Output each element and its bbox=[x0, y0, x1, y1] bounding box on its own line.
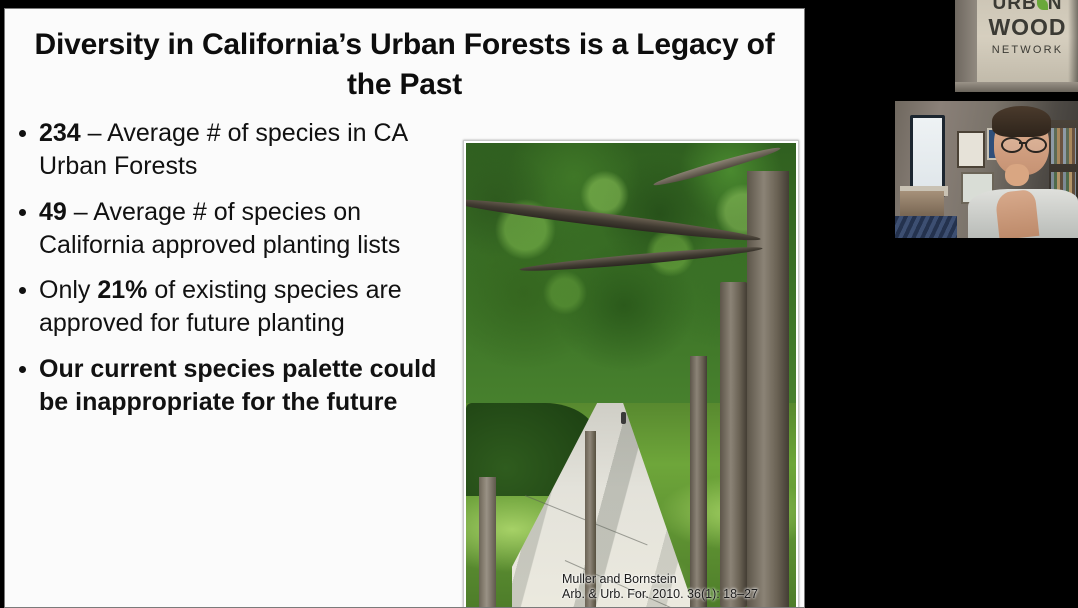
logo-edge-shadow bbox=[1068, 0, 1078, 92]
slide-title: Diversity in California’s Urban Forests … bbox=[33, 25, 776, 105]
logo-line-network: NETWORK bbox=[979, 45, 1076, 56]
list-item: Only 21% of existing species are approve… bbox=[13, 274, 461, 341]
photo-citation: Muller and Bornstein Arb. & Urb. For. 20… bbox=[562, 572, 758, 603]
glasses-icon bbox=[1025, 137, 1047, 153]
video-presenter-arm bbox=[995, 189, 1040, 238]
video-wall-picture bbox=[957, 131, 985, 168]
photo-tree-trunk bbox=[479, 477, 496, 607]
logo-line-wood: WOOD bbox=[979, 15, 1076, 40]
logo-text-n: N bbox=[1048, 0, 1063, 14]
list-item: Our current species palette could be ina… bbox=[13, 353, 461, 420]
presenter-video-tile[interactable] bbox=[895, 101, 1078, 238]
bullet-text: Our current species palette could be ina… bbox=[39, 355, 436, 416]
logo-sign-post bbox=[955, 0, 977, 92]
photo-citation-authors: Muller and Bornstein bbox=[562, 572, 758, 588]
photo-citation-reference: Arb. & Urb. For. 2010. 36(1): 18–27 bbox=[562, 587, 758, 603]
logo-wordmark: URBN WOOD NETWORK bbox=[979, 0, 1076, 56]
leaf-icon bbox=[1037, 0, 1048, 10]
photo-distant-pedestrian bbox=[621, 412, 626, 424]
video-rug bbox=[895, 216, 957, 238]
list-item: 49 – Average # of species on California … bbox=[13, 196, 461, 263]
bullet-lead-value: 49 bbox=[39, 198, 67, 226]
logo-base bbox=[955, 82, 1078, 92]
bullet-prefix: Only bbox=[39, 276, 97, 304]
glasses-bridge bbox=[1019, 142, 1025, 144]
logo-line-urban: URBN bbox=[979, 0, 1076, 13]
video-presenter-hand bbox=[1005, 164, 1029, 186]
screen-share-stage: Diversity in California’s Urban Forests … bbox=[0, 0, 1078, 606]
urban-wood-network-logo: URBN WOOD NETWORK bbox=[955, 0, 1078, 92]
bullet-lead-value: 21% bbox=[97, 276, 147, 304]
bullet-text: – Average # of species on California app… bbox=[39, 198, 400, 259]
logo-text-urb: URB bbox=[993, 0, 1037, 14]
list-item: 234 – Average # of species in CA Urban F… bbox=[13, 117, 461, 184]
slide-title-line-1: Diversity in California’s Urban Forests … bbox=[34, 28, 628, 61]
presentation-slide[interactable]: Diversity in California’s Urban Forests … bbox=[4, 8, 805, 608]
bullet-text: – Average # of species in CA Urban Fores… bbox=[39, 119, 407, 180]
photo-tree-trunk bbox=[690, 356, 707, 607]
video-books bbox=[1051, 128, 1077, 164]
bullet-list: 234 – Average # of species in CA Urban F… bbox=[13, 117, 461, 431]
street-trees-photo-image: Muller and Bornstein Arb. & Urb. For. 20… bbox=[466, 143, 796, 607]
bullet-lead-value: 234 bbox=[39, 119, 81, 147]
slide-photo: Muller and Bornstein Arb. & Urb. For. 20… bbox=[463, 140, 799, 608]
video-presenter-hair bbox=[992, 106, 1051, 136]
slide-body: 234 – Average # of species in CA Urban F… bbox=[5, 117, 804, 607]
photo-tree-trunk bbox=[720, 282, 746, 607]
